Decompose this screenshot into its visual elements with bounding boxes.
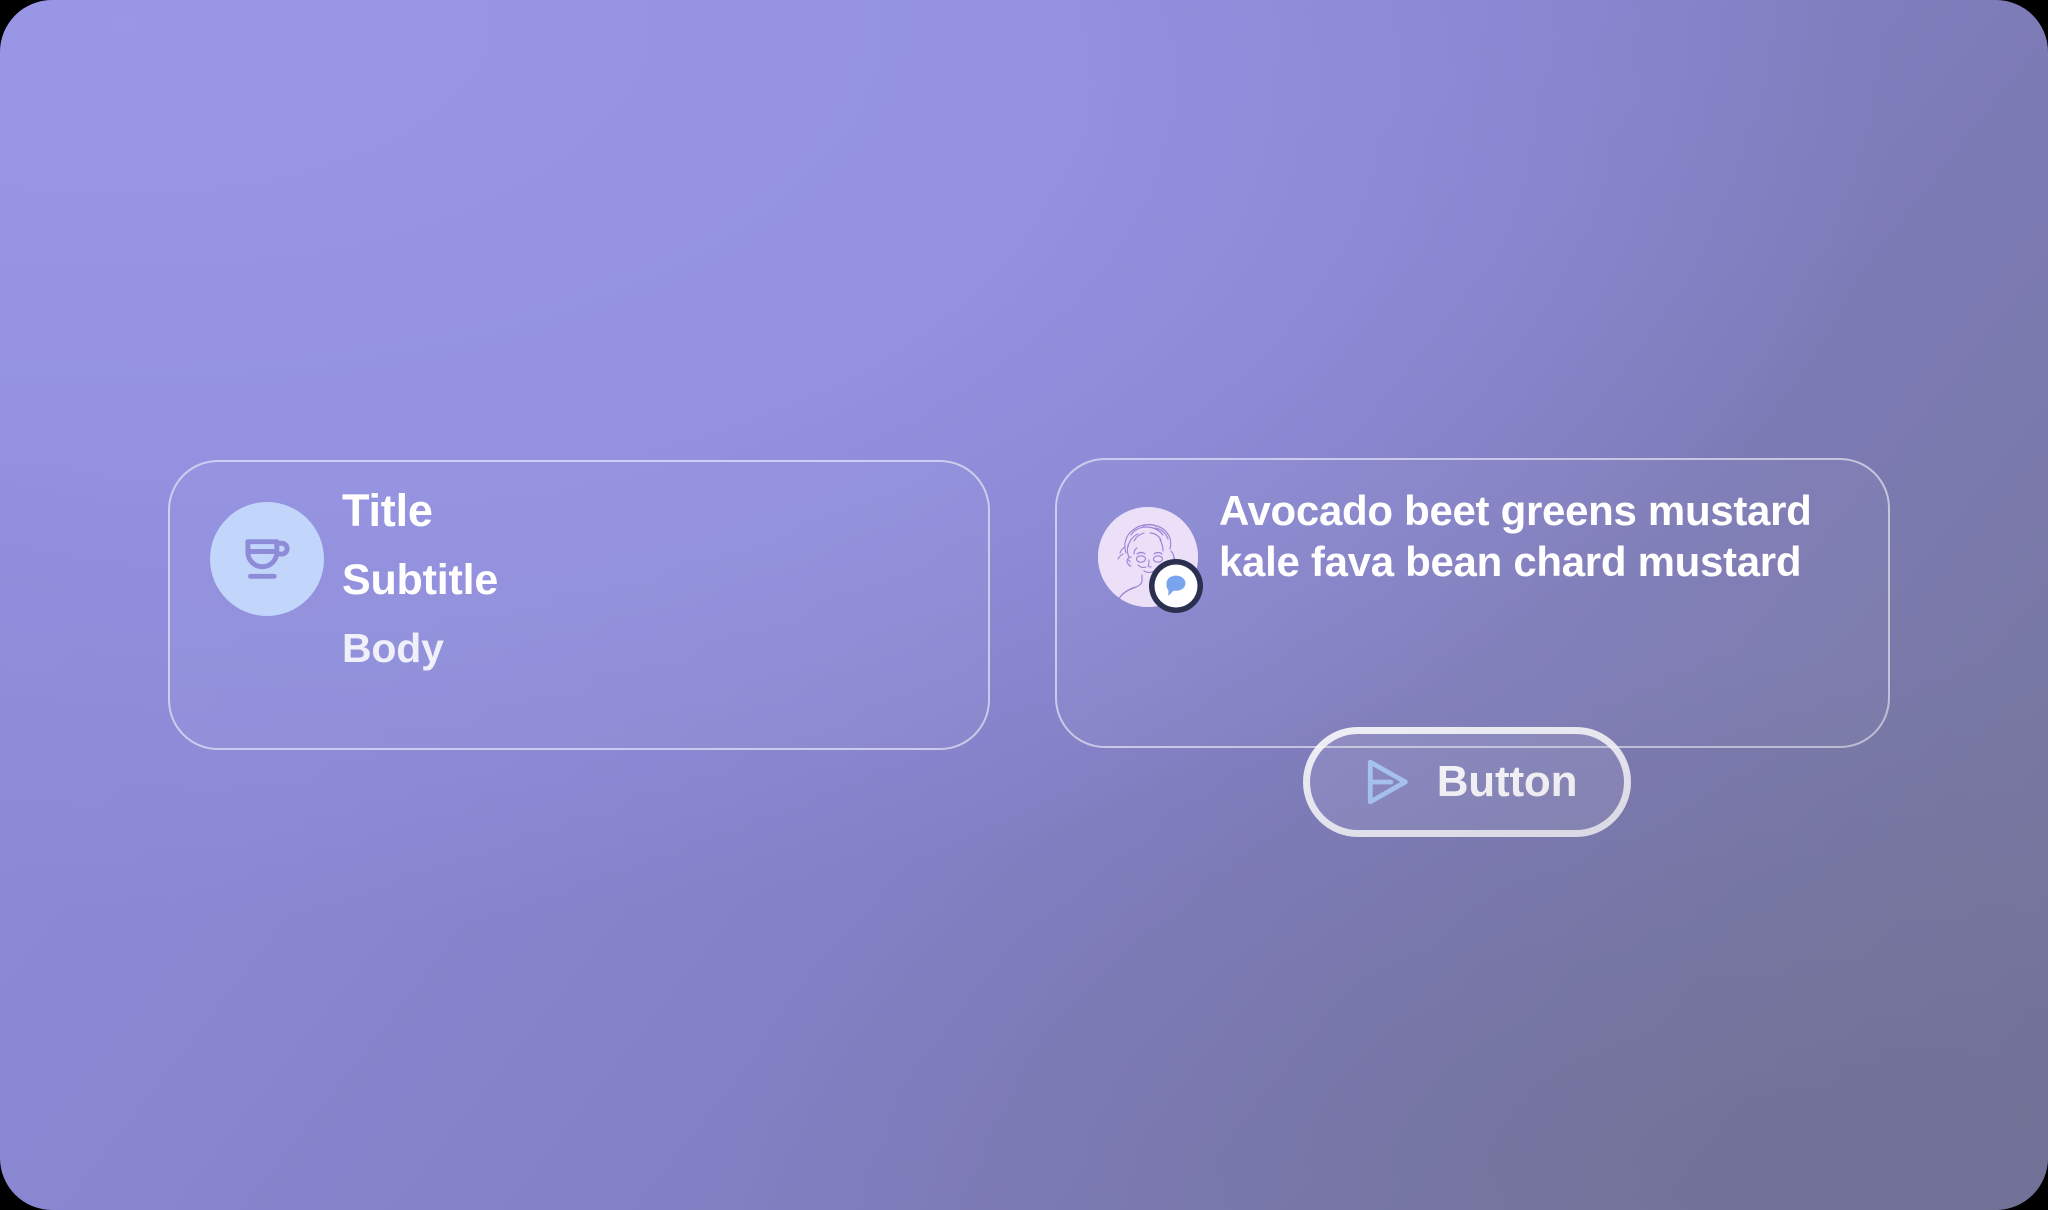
card-subtitle: Subtitle	[342, 554, 952, 607]
card-text-block: Title Subtitle Body	[342, 484, 952, 674]
card-media-circle	[210, 502, 324, 616]
message-card[interactable]: Avocado beet greens mustard kale fava be…	[1055, 458, 1890, 748]
send-button-label: Button	[1437, 760, 1578, 804]
message-text: Avocado beet greens mustard kale fava be…	[1219, 486, 1848, 588]
chat-bubble-icon	[1147, 557, 1205, 615]
send-button[interactable]: Button	[1303, 727, 1631, 837]
canvas-background: Title Subtitle Body	[0, 0, 2048, 1210]
screenshot-stage: Title Subtitle Body	[0, 0, 2048, 1210]
card-body: Body	[342, 623, 952, 674]
card-title: Title	[342, 484, 952, 539]
send-triangle-icon	[1357, 753, 1415, 811]
basic-info-card[interactable]: Title Subtitle Body	[168, 460, 990, 750]
coffee-cup-icon	[236, 528, 298, 590]
card-media-avatar	[1098, 507, 1198, 607]
